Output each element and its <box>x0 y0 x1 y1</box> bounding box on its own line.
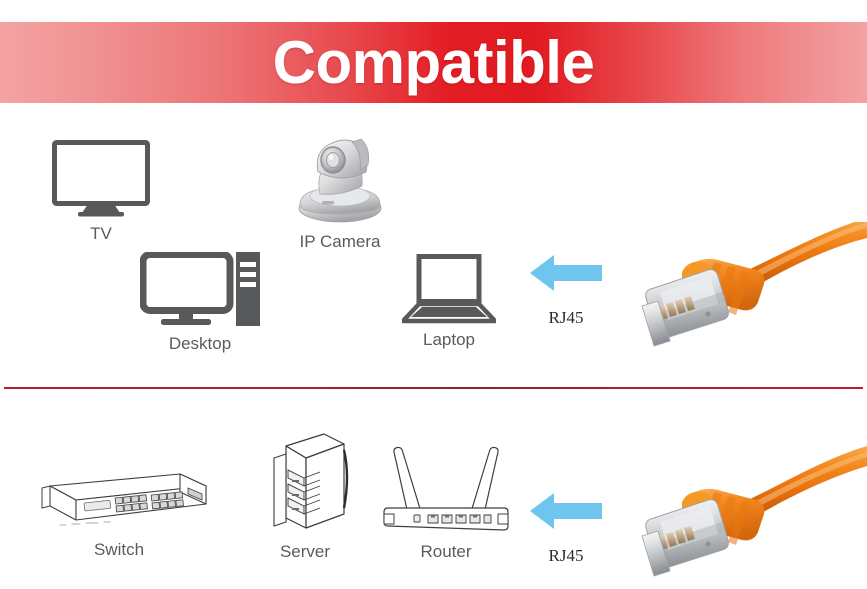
device-laptop: Laptop <box>402 254 496 350</box>
arrow-left-icon <box>528 490 604 532</box>
tv-icon <box>52 140 150 218</box>
rj45-patch-cable-top <box>636 222 867 357</box>
device-label-laptop: Laptop <box>423 330 475 350</box>
device-desktop: Desktop <box>140 252 260 354</box>
device-server: Server <box>258 428 352 562</box>
server-rack-icon <box>258 428 352 536</box>
wireless-router-icon <box>378 436 514 536</box>
rj45-patch-cable-icon <box>628 444 867 584</box>
ip-camera-icon <box>292 132 388 226</box>
device-label-tv: TV <box>90 224 112 244</box>
device-label-desktop: Desktop <box>169 334 231 354</box>
banner-title: Compatible <box>273 33 595 93</box>
arrow-left-icon <box>528 252 604 294</box>
device-tv: TV <box>52 140 150 244</box>
device-switch: Switch <box>28 456 210 560</box>
device-label-ip-camera: IP Camera <box>300 232 381 252</box>
compatible-banner: Compatible <box>0 22 867 103</box>
rj45-label-top: RJ45 <box>549 308 584 328</box>
device-label-router: Router <box>420 542 471 562</box>
device-label-server: Server <box>280 542 330 562</box>
rj45-connector-top: RJ45 <box>528 252 604 328</box>
rj45-connector-bottom: RJ45 <box>528 490 604 566</box>
device-router: Router <box>378 436 514 562</box>
rj45-patch-cable-icon <box>636 222 867 352</box>
rj45-label-bottom: RJ45 <box>549 546 584 566</box>
desktop-computer-icon <box>140 252 260 328</box>
laptop-icon <box>402 254 496 324</box>
section-divider <box>4 387 863 389</box>
rj45-patch-cable-bottom <box>628 444 867 589</box>
device-ip-camera: IP Camera <box>292 132 388 252</box>
device-label-switch: Switch <box>94 540 144 560</box>
network-switch-icon <box>28 456 210 534</box>
